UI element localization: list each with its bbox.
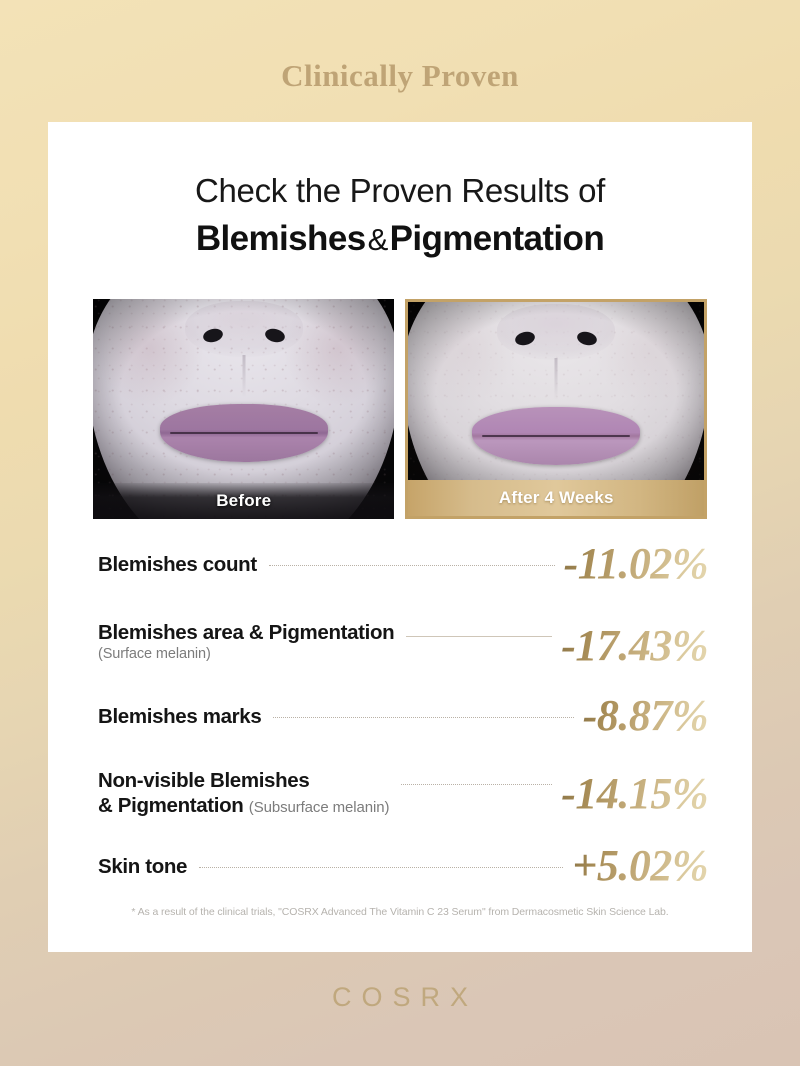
result-label-line-2-text: & Pigmentation <box>98 794 243 817</box>
headline-pigmentation: Pigmentation <box>390 219 604 258</box>
before-photo: Before <box>93 299 394 519</box>
after-caption: After 4 Weeks <box>408 480 704 516</box>
headline-blemishes: Blemishes <box>196 219 366 258</box>
result-value: -8.87% <box>583 694 708 738</box>
result-label-text: Blemishes area & Pigmentation <box>98 620 394 645</box>
before-caption: Before <box>93 483 394 519</box>
results-card: Check the Proven Results of Blemishes&Pi… <box>48 122 752 952</box>
headline-line-1: Check the Proven Results of <box>48 170 752 212</box>
result-label: Non-visible Blemishes & Pigmentation (Su… <box>98 768 389 818</box>
after-photo: After 4 Weeks <box>405 299 707 519</box>
headline-line-2: Blemishes&Pigmentation <box>48 216 752 262</box>
result-row-blemishes-count: Blemishes count -11.02% <box>98 542 708 586</box>
leader-line <box>401 783 552 785</box>
leader-line <box>273 716 573 718</box>
leader-line <box>199 866 563 868</box>
result-value: -17.43% <box>561 624 708 668</box>
result-row-non-visible-blemishes: Non-visible Blemishes & Pigmentation (Su… <box>98 768 708 818</box>
result-label-text: Blemishes count <box>98 552 257 577</box>
result-label-line-1: Non-visible Blemishes <box>98 768 389 793</box>
result-value: -11.02% <box>564 542 708 586</box>
result-label-text: Blemishes marks <box>98 704 261 729</box>
result-sublabel-text: (Subsurface melanin) <box>249 799 390 816</box>
leader-line <box>406 635 552 637</box>
results-list: Blemishes count -11.02% Blemishes area &… <box>98 542 708 888</box>
headline-block: Check the Proven Results of Blemishes&Pi… <box>48 170 752 262</box>
result-row-blemishes-marks: Blemishes marks -8.87% <box>98 694 708 738</box>
result-label: Skin tone <box>98 854 187 879</box>
result-label: Blemishes marks <box>98 704 261 729</box>
result-label-text: Skin tone <box>98 854 187 879</box>
leader-line <box>269 564 555 566</box>
result-value: -14.15% <box>561 772 708 816</box>
promo-poster: Clinically Proven Check the Proven Resul… <box>0 0 800 1066</box>
result-sublabel-text: (Surface melanin) <box>98 645 394 663</box>
clinical-trial-footnote: * As a result of the clinical trials, "C… <box>48 906 752 918</box>
eyebrow-heading: Clinically Proven <box>0 58 800 94</box>
before-after-gallery: Before <box>93 299 707 519</box>
headline-ampersand: & <box>366 222 390 257</box>
result-row-skin-tone: Skin tone +5.02% <box>98 844 708 888</box>
result-label: Blemishes area & Pigmentation (Surface m… <box>98 620 394 663</box>
result-value: +5.02% <box>572 844 708 888</box>
brand-logo: COSRX <box>0 982 800 1013</box>
result-row-blemishes-area: Blemishes area & Pigmentation (Surface m… <box>98 620 708 668</box>
result-label: Blemishes count <box>98 552 257 577</box>
result-label-line-2: & Pigmentation (Subsurface melanin) <box>98 793 389 818</box>
